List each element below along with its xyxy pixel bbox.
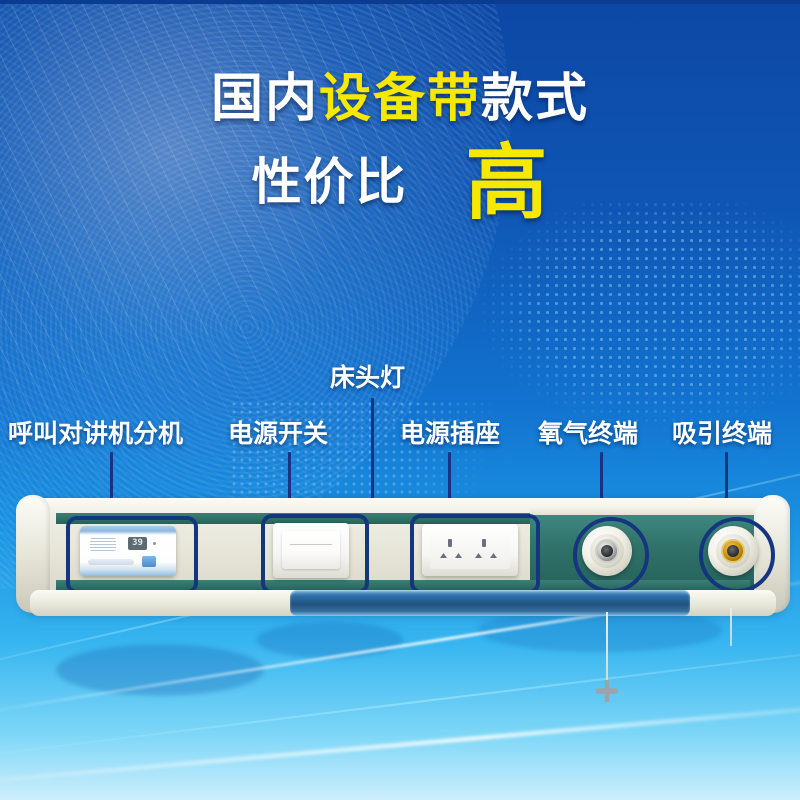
suction-pull-cord[interactable] xyxy=(730,608,732,646)
bed-head-unit-panel: 39 xyxy=(22,498,784,630)
product-banner: 国内设备带款式 性价比高 呼叫对讲机分机 电源开关 床头灯 电源插座 氧气终端 … xyxy=(0,0,800,800)
highlight-box-intercom xyxy=(66,516,198,594)
callout-label-socket: 电源插座 xyxy=(400,414,500,450)
bed-lamp-diffuser xyxy=(290,590,690,616)
callout-label-intercom: 呼叫对讲机分机 xyxy=(8,414,183,450)
highlight-circle-suction xyxy=(699,517,775,593)
highlight-circle-oxygen xyxy=(573,517,649,593)
callout-label-suction: 吸引终端 xyxy=(672,414,772,450)
callout-label-bedlamp: 床头灯 xyxy=(330,358,405,394)
highlight-box-switch xyxy=(261,514,369,594)
callout-layer: 呼叫对讲机分机 电源开关 床头灯 电源插座 氧气终端 吸引终端 xyxy=(0,0,800,800)
gas-panel-top-rail xyxy=(530,506,754,515)
highlight-box-socket xyxy=(410,514,540,594)
oxygen-pull-cord[interactable] xyxy=(606,612,608,684)
callout-label-switch: 电源开关 xyxy=(228,414,328,450)
callout-label-oxygen: 氧气终端 xyxy=(538,414,638,450)
